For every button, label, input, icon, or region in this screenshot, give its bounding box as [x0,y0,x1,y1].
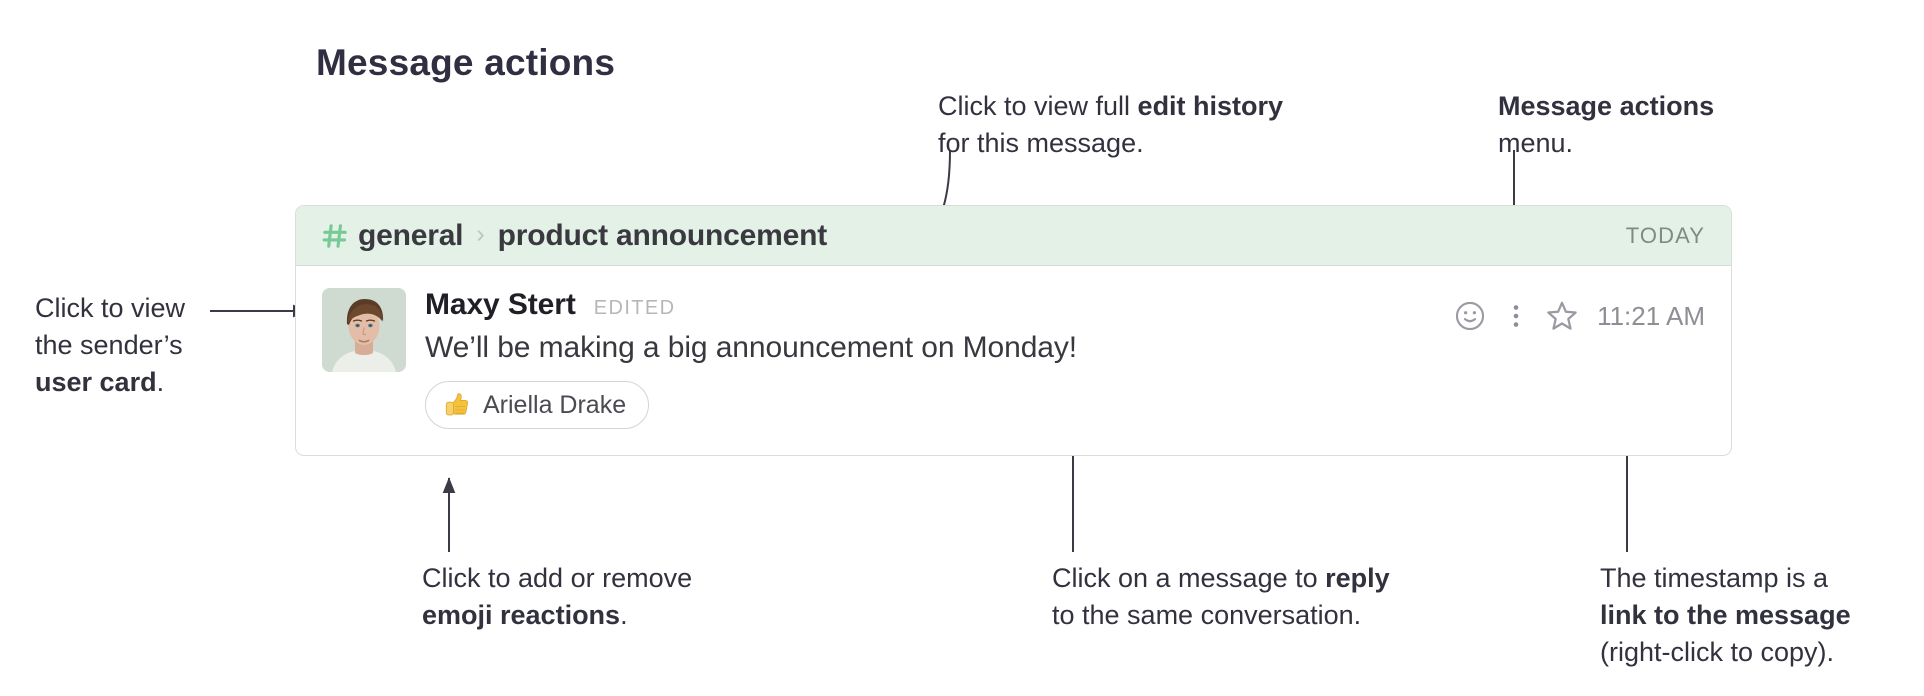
annotation-edit-history-line1-pre: Click to view full [938,91,1138,121]
annotation-actions-menu: Message actions menu. [1498,88,1714,162]
edited-label[interactable]: EDITED [594,297,676,320]
annotation-timestamp-line1: The timestamp is a [1600,560,1851,597]
annotation-user-card: Click to view the sender’s user card. [35,290,185,401]
reaction-pill[interactable]: Ariella Drake [425,381,649,429]
sender-name[interactable]: Maxy Stert [425,288,576,322]
annotation-emoji-reactions: Click to add or remove emoji reactions. [422,560,692,634]
annotation-user-card-period: . [157,367,165,397]
annotation-emoji-line1: Click to add or remove [422,560,692,597]
message-row[interactable]: Maxy Stert EDITED We’ll be making a big … [296,266,1731,455]
card-header: general › product announcement TODAY [296,206,1731,266]
star-icon[interactable] [1539,294,1585,338]
annotation-reply-line2: to the same conversation. [1052,597,1390,634]
message-content: Maxy Stert EDITED We’ll be making a big … [425,288,1447,429]
message-actions: 11:21 AM [1447,288,1705,429]
annotation-reply: Click on a message to reply to the same … [1052,560,1390,634]
date-label: TODAY [1626,223,1705,249]
annotation-actions-menu-bold: Message actions [1498,91,1714,121]
breadcrumb-separator-icon: › [476,222,484,247]
annotation-emoji-bold: emoji reactions [422,600,620,630]
annotation-user-card-bold: user card [35,367,157,397]
thumbs-up-icon [442,390,472,420]
annotation-user-card-line1: Click to view [35,290,185,327]
reaction-row: Ariella Drake [425,381,1447,429]
message-card: general › product announcement TODAY [295,205,1732,456]
annotation-edit-history: Click to view full edit history for this… [938,88,1283,162]
message-header-line: Maxy Stert EDITED [425,288,1447,322]
annotation-edit-history-bold: edit history [1138,91,1284,121]
annotation-timestamp-link: The timestamp is a link to the message (… [1600,560,1851,671]
page-title: Message actions [316,42,615,84]
breadcrumb-topic[interactable]: product announcement [498,219,827,253]
annotation-timestamp-line3: (right-click to copy). [1600,634,1851,671]
annotation-actions-menu-line2: menu. [1498,125,1714,162]
emoji-reaction-icon[interactable] [1447,294,1493,338]
hash-icon [322,223,348,249]
annotation-edit-history-line2: for this message. [938,125,1283,162]
avatar[interactable] [322,288,406,372]
annotation-user-card-line2: the sender’s [35,327,185,364]
message-actions-menu-icon[interactable] [1493,294,1539,338]
annotation-timestamp-bold: link to the message [1600,600,1851,630]
message-timestamp[interactable]: 11:21 AM [1597,294,1705,332]
annotation-reply-bold: reply [1325,563,1390,593]
annotation-reply-line1-pre: Click on a message to [1052,563,1325,593]
message-body[interactable]: We’ll be making a big announcement on Mo… [425,331,1447,365]
annotation-emoji-period: . [620,600,628,630]
breadcrumb-channel[interactable]: general [358,219,463,253]
avatar-image [322,288,406,372]
reaction-user-label: Ariella Drake [483,391,626,420]
